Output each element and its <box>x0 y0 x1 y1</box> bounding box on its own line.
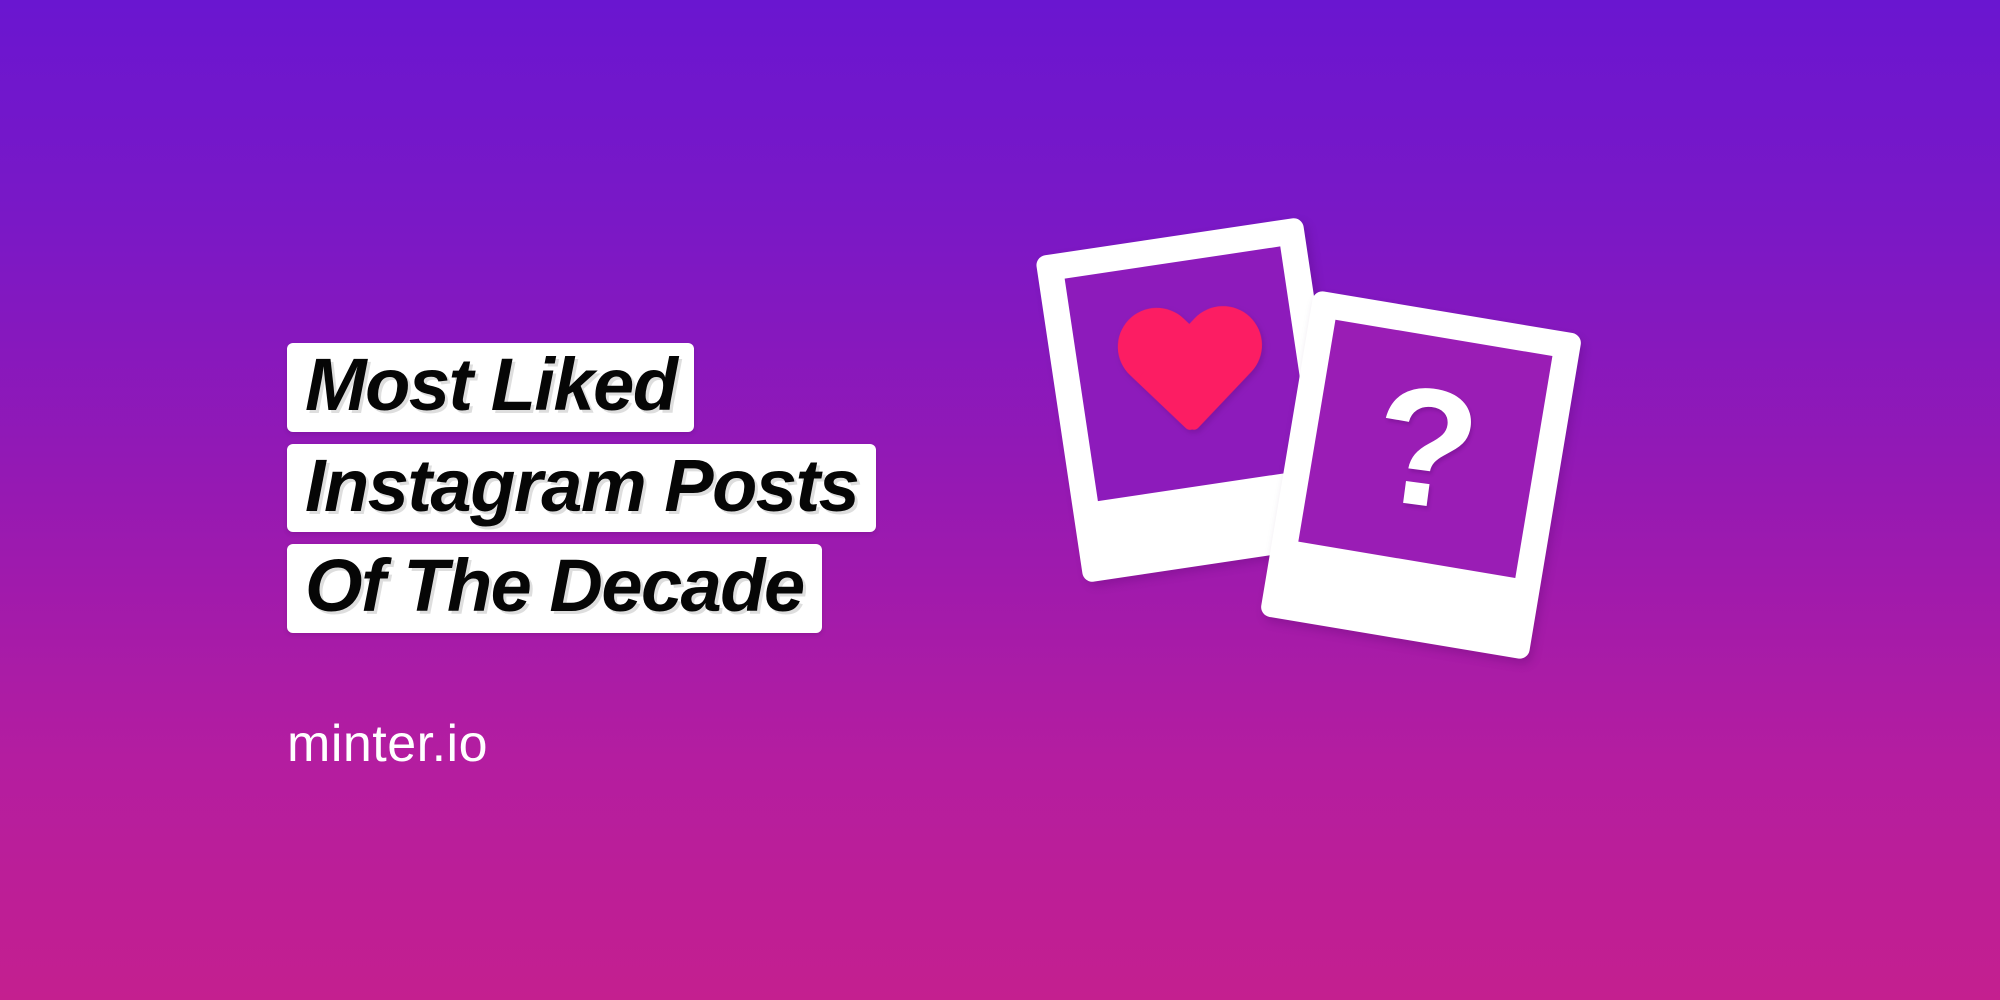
headline-line-1: Most Liked <box>287 343 694 432</box>
banner-canvas: Most Liked Instagram Posts Of The Decade… <box>0 0 2000 1000</box>
headline-line-3: Of The Decade <box>287 544 822 633</box>
headline-text-1: Most Liked <box>305 349 676 422</box>
headline-line-2: Instagram Posts <box>287 444 876 533</box>
heart-polaroid-window <box>1064 247 1313 501</box>
question-polaroid-window: ? <box>1298 320 1552 578</box>
heart-icon <box>1113 308 1267 448</box>
headline-block: Most Liked Instagram Posts Of The Decade <box>287 343 876 633</box>
question-polaroid: ? <box>1260 290 1583 660</box>
headline-text-3: Of The Decade <box>305 550 804 623</box>
question-mark-icon: ? <box>1364 357 1488 537</box>
brand-logo-text: minter.io <box>287 714 488 774</box>
polaroid-graphic: ? <box>1040 195 1800 715</box>
headline-text-2: Instagram Posts <box>305 450 858 523</box>
